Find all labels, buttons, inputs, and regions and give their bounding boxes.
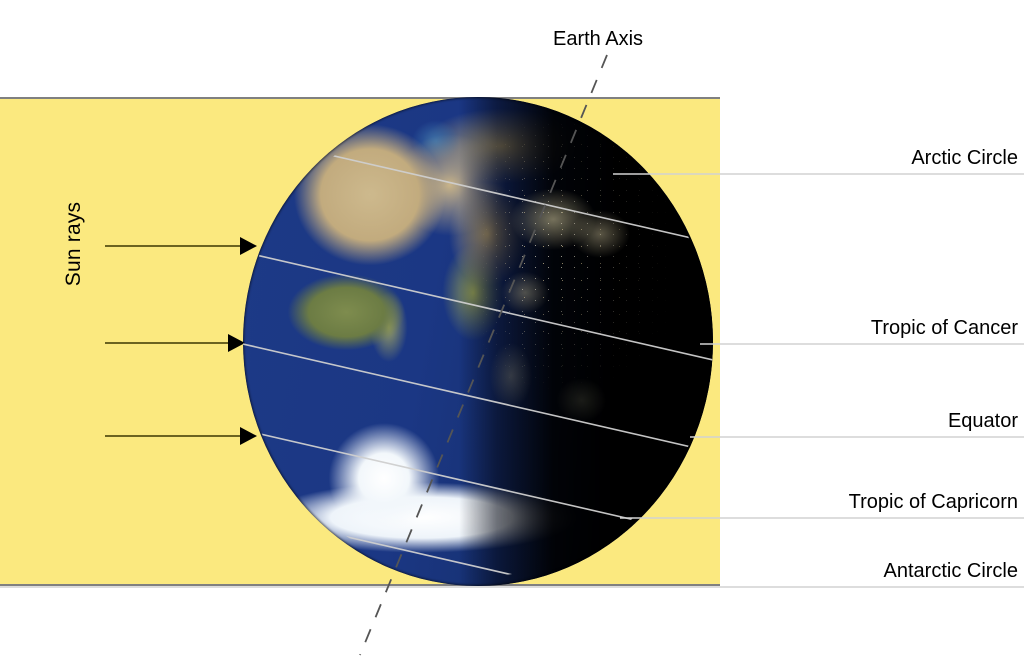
sun-rays-label: Sun rays <box>62 164 86 324</box>
sun-ray-arrow-2-shaft <box>105 342 233 344</box>
earth-globe <box>243 97 713 586</box>
sun-ray-arrow-3-shaft <box>105 435 245 437</box>
sun-ray-arrow-1-shaft <box>105 245 245 247</box>
globe-rim <box>243 97 713 586</box>
sun-ray-arrow-3-head <box>240 427 257 445</box>
earth-axis-label: Earth Axis <box>553 28 643 51</box>
sun-ray-arrow-1-head <box>240 237 257 255</box>
label-equator: Equator <box>948 410 1018 433</box>
solstice-diagram: Sun rays <box>0 0 1024 672</box>
sun-ray-arrow-2-head <box>228 334 245 352</box>
label-antarctic-circle: Antarctic Circle <box>884 560 1018 583</box>
label-tropic-of-cancer: Tropic of Cancer <box>871 317 1018 340</box>
label-arctic-circle: Arctic Circle <box>911 147 1018 170</box>
label-tropic-of-capricorn: Tropic of Capricorn <box>849 491 1018 514</box>
